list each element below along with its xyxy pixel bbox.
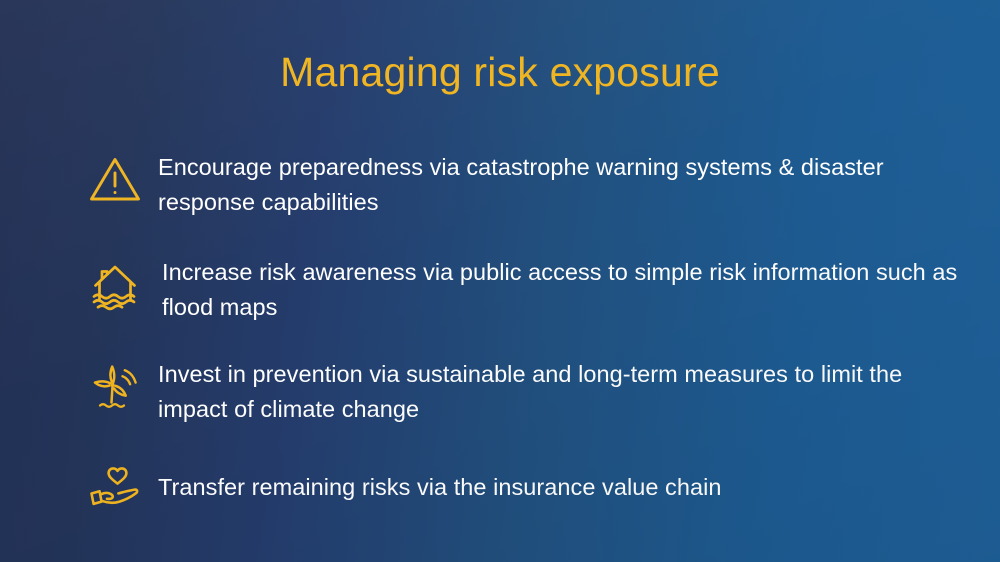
list-item: Increase risk awareness via public acces… bbox=[84, 253, 960, 324]
page-title: Managing risk exposure bbox=[0, 50, 1000, 95]
list-item-label: Transfer remaining risks via the insuran… bbox=[146, 460, 960, 505]
list-item-label: Invest in prevention via sustainable and… bbox=[146, 355, 960, 426]
list-item-label: Increase risk awareness via public acces… bbox=[146, 253, 960, 324]
list-item: Invest in prevention via sustainable and… bbox=[84, 355, 960, 426]
hand-heart-icon bbox=[84, 460, 146, 518]
warning-triangle-icon bbox=[84, 150, 146, 208]
flooded-house-icon bbox=[84, 257, 146, 315]
list-item: Transfer remaining risks via the insuran… bbox=[84, 460, 960, 518]
list-item-label: Encourage preparedness via catastrophe w… bbox=[146, 148, 960, 219]
wind-turbine-icon bbox=[84, 357, 146, 415]
slide-canvas: Managing risk exposure Encourage prepare… bbox=[0, 0, 1000, 562]
list-item: Encourage preparedness via catastrophe w… bbox=[84, 148, 960, 219]
